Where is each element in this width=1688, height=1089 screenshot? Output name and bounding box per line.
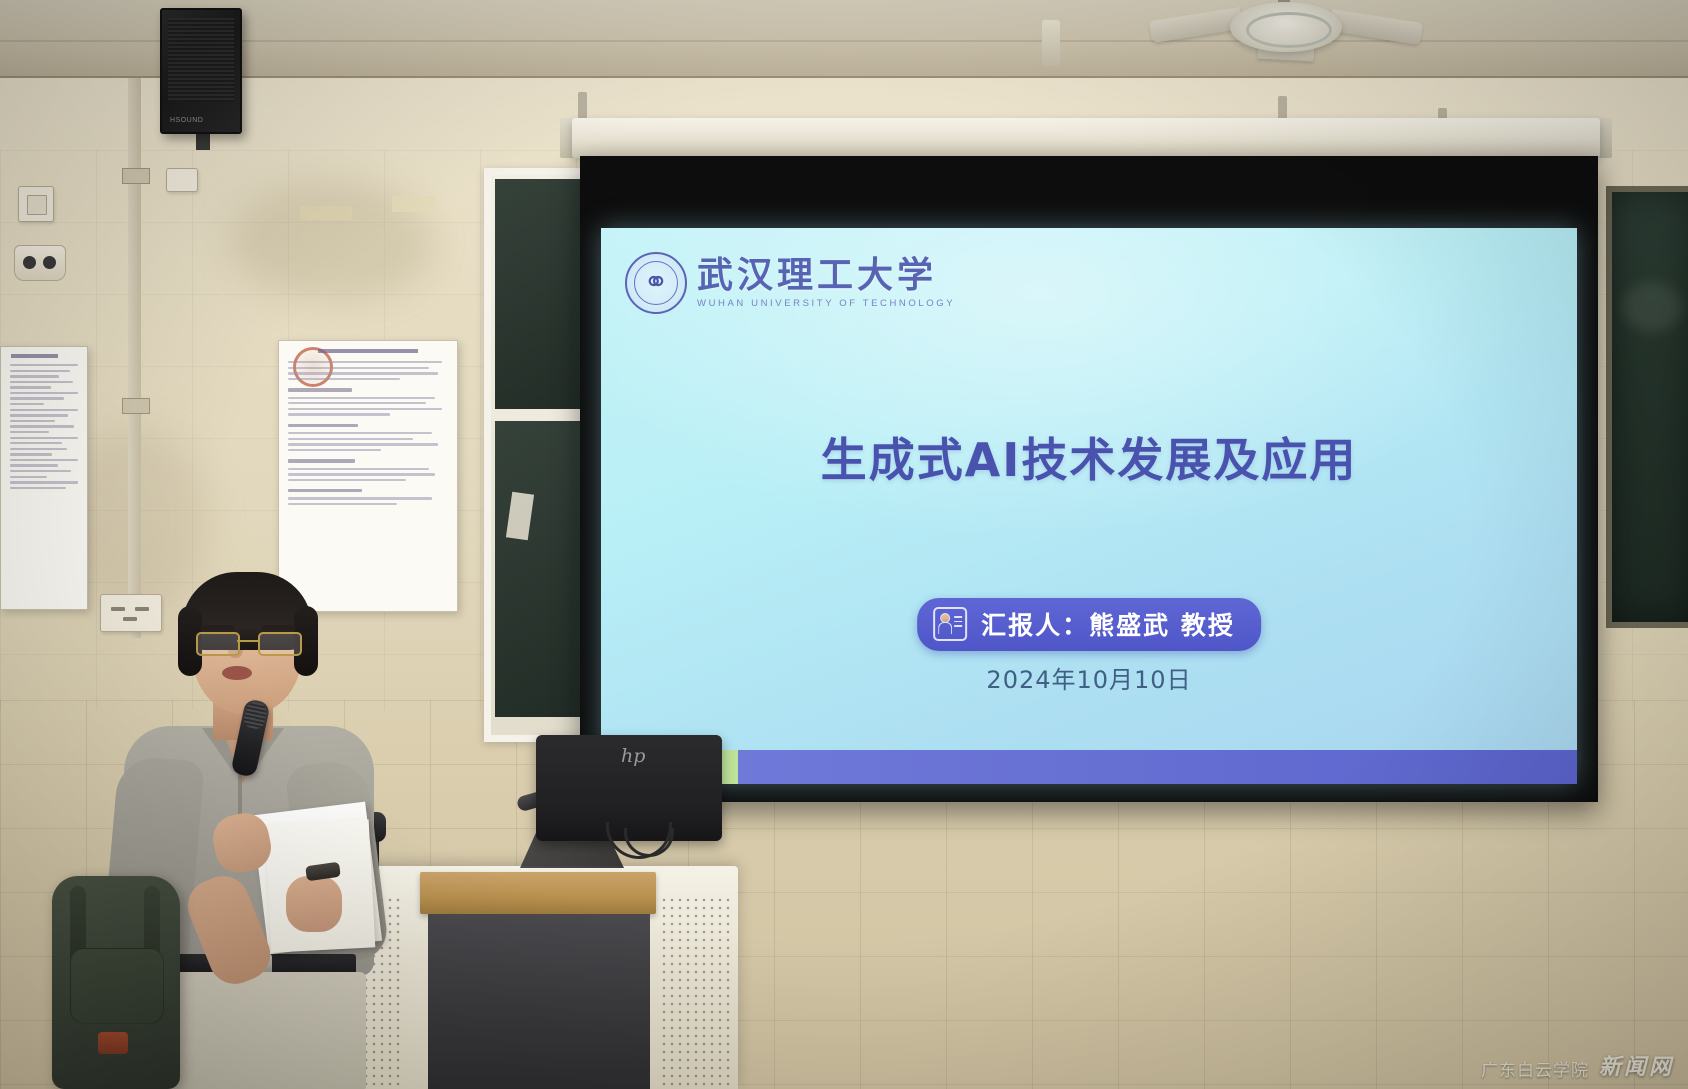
lectern-front-panel [428,914,650,1089]
wall-conduit [128,78,141,638]
notice-poster-left [0,346,88,610]
university-name-en: WUHAN UNIVERSITY OF TECHNOLOGY [697,299,955,309]
glasses-bridge [237,640,259,642]
wall-bracket [122,168,150,184]
watermark-org: 广东白云学院 [1481,1056,1589,1081]
speaker-grille [168,18,234,102]
university-logo-text: 武汉理工大学 WUHAN UNIVERSITY OF TECHNOLOGY [697,258,955,309]
presenter-id-card-icon [933,607,967,641]
chalk-dust [1622,282,1682,332]
icon-card-lines [954,616,962,630]
screen-housing [572,118,1600,158]
chalkboard-right [1606,186,1688,628]
ceiling-seam [0,76,1688,78]
presenter-label: 汇报人：熊盛武 教授 [981,606,1235,642]
ceiling [0,0,1688,78]
person-trousers [160,972,366,1089]
university-name-cn: 武汉理工大学 [697,258,955,294]
watermark: 广东白云学院 新闻网 [1481,1049,1674,1081]
person-mouth [222,666,252,680]
notice-poster-center [278,340,458,612]
glasses-lens-right [258,632,302,656]
lectern-vent-right [660,896,734,1086]
poster-body-text [1,362,87,494]
poster-heading [318,349,418,353]
backpack-pocket [70,948,164,1024]
wall-speaker: HSOUND [160,8,242,134]
wall-tape-patch [392,196,436,212]
wut-seal-icon: ⚭ [625,252,687,314]
presentation-slide: ⚭ 武汉理工大学 WUHAN UNIVERSITY OF TECHNOLOGY … [601,228,1577,784]
presenter-badge: 汇报人：熊盛武 教授 [917,598,1261,651]
poster-heading [11,354,58,358]
wall-tape-patch [300,206,352,220]
wall-outlet[interactable] [166,168,198,192]
slide-footer [601,750,1577,784]
icon-person-body [938,622,952,634]
person-right-hand [286,876,342,932]
switch-rocker [27,195,47,215]
lectern-desktop [420,872,656,914]
lecture-photo-scene: HSOUND [0,0,1688,1089]
sensor-eye-icon [23,256,36,269]
window-pane [495,421,593,717]
microphone-grille [242,701,268,731]
window-pane [495,179,593,409]
slide-title: 生成式AI技术发展及应用 [601,424,1577,490]
sensor-eye-icon [43,256,56,269]
glasses-lens-left [196,632,240,656]
person-eyebrow [200,625,234,630]
university-logo: ⚭ 武汉理工大学 WUHAN UNIVERSITY OF TECHNOLOGY [625,252,955,314]
wall-stain [320,220,430,290]
watermark-site: 新闻网 [1599,1049,1674,1081]
wall-switch[interactable] [18,186,54,222]
seal-swirl-glyph: ⚭ [639,264,673,302]
wall-bracket [122,398,150,414]
motion-sensor [14,245,66,281]
ceiling-seam [0,40,1688,42]
speaker-brand-label: HSOUND [170,117,203,124]
person-eyebrow [262,625,296,630]
hp-logo: hp [621,745,645,767]
fan-ring [1246,12,1332,48]
backpack [52,876,180,1089]
person-glasses [196,632,300,652]
footer-bar [738,750,1577,784]
slide-date: 2024年10月10日 [601,660,1577,695]
ceiling-fixture [1042,20,1060,66]
backpack-logo-patch [98,1032,128,1054]
